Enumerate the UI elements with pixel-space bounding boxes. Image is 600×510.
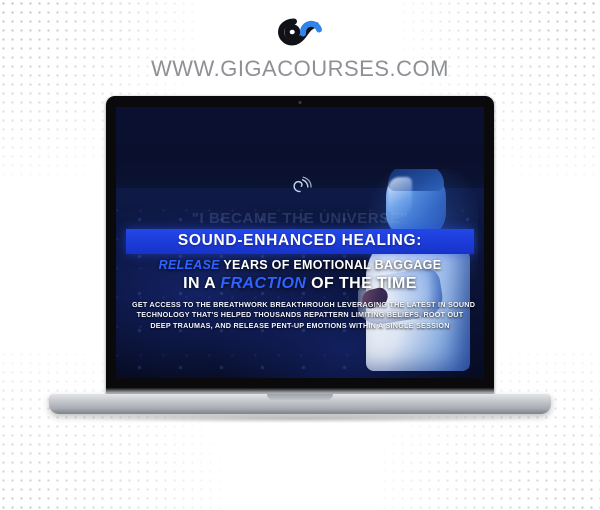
promo-subheadline-rest: YEARS OF EMOTIONAL BAGGAGE: [223, 258, 441, 272]
laptop-base: [49, 394, 551, 414]
promo-body-copy: GET ACCESS TO THE BREATHWORK BREAKTHROUG…: [116, 300, 484, 332]
laptop-base-notch: [267, 394, 333, 400]
brand-domain-text: WWW.GIGACOURSES.COM: [0, 56, 600, 82]
promo-headline-text: SOUND-ENHANCED HEALING:: [178, 232, 422, 249]
promo-emphasis-release: RELEASE: [159, 258, 220, 272]
laptop-lid: "I BECAME THE UNIVERSE" SOUND-ENHANCED H…: [106, 96, 494, 394]
promo-body-line: DEEP TRAUMAS, AND RELEASE PENT-UP EMOTIO…: [132, 321, 468, 332]
promo-emphasis-fraction: FRACTION: [220, 275, 306, 292]
laptop-drop-shadow: [65, 414, 535, 423]
webcam-dot-icon: [299, 101, 302, 104]
sound-spiral-icon: [287, 172, 313, 198]
laptop-mockup: "I BECAME THE UNIVERSE" SOUND-ENHANCED H…: [49, 96, 551, 426]
promo-headline-bar: SOUND-ENHANCED HEALING:: [126, 229, 474, 254]
promo-body-line: TECHNOLOGY THAT'S HELPED THOUSANDS REPAT…: [132, 310, 468, 321]
promo-subheadline-line-1: RELEASE YEARS OF EMOTIONAL BAGGAGE: [116, 258, 484, 272]
laptop-screen: "I BECAME THE UNIVERSE" SOUND-ENHANCED H…: [116, 107, 484, 378]
promo-line3-suffix: OF THE TIME: [311, 275, 417, 292]
ghost-headline: "I BECAME THE UNIVERSE": [116, 210, 484, 227]
brand-header: WWW.GIGACOURSES.COM: [0, 12, 600, 82]
promo-subheadline-line-2: IN A FRACTION OF THE TIME: [116, 275, 484, 293]
promo-body-line: GET ACCESS TO THE BREATHWORK BREAKTHROUG…: [132, 300, 468, 311]
gigacourses-infinity-logo-icon: [276, 12, 324, 52]
promo-copy: SOUND-ENHANCED HEALING: RELEASE YEARS OF…: [116, 229, 484, 332]
product-promo-image: WWW.GIGACOURSES.COM: [0, 0, 600, 510]
promo-line3-prefix: IN A: [183, 275, 215, 292]
